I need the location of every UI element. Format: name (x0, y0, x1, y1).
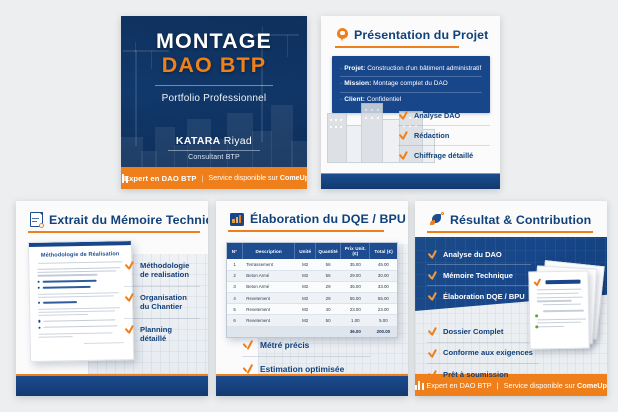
bar-chart-icon (230, 213, 244, 226)
footer-strong-text: Expert en DAO BTP (124, 174, 197, 183)
dqe-table: N° Description Unité Quantité Prix Unit.… (227, 243, 397, 337)
panel-title: Élaboration du DQE / BPU (250, 212, 406, 226)
check-icon (125, 325, 134, 334)
col-qte: Quantité (315, 243, 341, 259)
table-cell: Beton Armé (242, 281, 295, 292)
col-desc: Description (242, 243, 295, 259)
header-underline (228, 230, 384, 232)
table-row: 5RevetementM24023.0023.00 (227, 304, 397, 315)
panel-footer-bar (321, 173, 500, 189)
table-cell: M2 (295, 281, 315, 292)
document-lines (30, 292, 132, 298)
check-icon (428, 250, 437, 259)
check-icon (125, 261, 134, 270)
table-cell: M2 (295, 270, 315, 281)
memoire-checklist: Méthodologie de realisation Organisation… (124, 255, 200, 350)
check-icon (243, 364, 253, 374)
table-cell: Beton Armé (242, 270, 295, 281)
memoire-document-preview: Méthodologie de Réalisation (28, 240, 134, 362)
check-icon (125, 293, 134, 302)
table-cell: Revetement (242, 292, 295, 303)
table-cell: 4 (227, 292, 242, 303)
cover-subtitle: Portfolio Professionnel (155, 85, 273, 104)
panel-elaboration-dqe-bpu: Élaboration du DQE / BPU N° Description … (216, 201, 408, 396)
documents-illustration (519, 263, 601, 355)
check-label: Prêt à soumission (443, 370, 508, 379)
check-label: Méthodologie de realisation (140, 261, 189, 280)
check-item: Prêt à soumission (427, 364, 539, 385)
table-row: 6RevetementM2501.005.00 (227, 315, 397, 326)
table-row: 1TerrassementM25635.0045.00 (227, 259, 397, 270)
contribution-checklist-top: Analyse du DAO Mémoire Technique Élabora… (427, 244, 531, 306)
table-cell: 5 (227, 304, 242, 315)
check-label: Chiffrage détaillé (414, 151, 473, 160)
table-cell: 5.00 (370, 315, 397, 326)
document-lines (31, 332, 133, 338)
document-search-icon (30, 212, 43, 227)
check-label: Rédaction (414, 131, 449, 140)
check-icon (399, 151, 408, 160)
check-label: Estimation optimisée (260, 364, 344, 374)
portfolio-mockup-stage: MONTAGE DAO BTP Portfolio Professionnel … (0, 0, 618, 412)
status-dot-green (535, 325, 538, 328)
document-bullet (30, 300, 132, 304)
panel-footer-bar (216, 374, 408, 396)
table-header: N° Description Unité Quantité Prix Unit.… (227, 243, 397, 259)
rocket-icon (429, 212, 444, 227)
paper-sheet-front (528, 270, 589, 349)
table-row: 2Beton ArméM25629.0030.00 (227, 270, 397, 281)
cover-slide: MONTAGE DAO BTP Portfolio Professionnel … (121, 16, 307, 189)
bar-chart-icon (415, 381, 421, 390)
check-item: Analyse du DAO (427, 244, 531, 265)
panel-body: Méthodologie de Réalisation (16, 237, 208, 374)
check-item: Métré précis (242, 333, 370, 357)
col-total: Total (€) (370, 243, 397, 259)
panel-body: Analyse du DAO Mémoire Technique Élabora… (415, 237, 607, 374)
table-cell: 29 (315, 292, 341, 303)
panel-body: Analyse DAO Rédaction Chiffrage détaillé (321, 102, 500, 173)
table-cell: 35.00 (341, 281, 370, 292)
check-label: Analyse du DAO (443, 250, 502, 259)
table-row: 4RevetementM22955.0055.00 (227, 292, 397, 303)
table-cell: 30.00 (370, 270, 397, 281)
check-label: Dossier Complet (443, 327, 503, 336)
panel-resultat-contribution: Résultat & Contribution Analyse du DAO M… (415, 201, 607, 396)
check-icon (399, 111, 408, 120)
check-item: Mémoire Technique (427, 265, 531, 286)
table-cell: 29.00 (341, 270, 370, 281)
cover-content: MONTAGE DAO BTP Portfolio Professionnel … (121, 16, 307, 167)
check-item: Élaboration DQE / BPU (427, 286, 531, 306)
table-header-row: N° Description Unité Quantité Prix Unit.… (227, 243, 397, 259)
check-label: Organisation du Chantier (140, 293, 187, 312)
table-cell: 2 (227, 270, 242, 281)
table-cell: 1 (227, 259, 242, 270)
table-cell: Revetement (242, 304, 295, 315)
col-unite: Unité (295, 243, 315, 259)
footer-service-text: Service disponible sur ComeUp (209, 174, 307, 182)
document-bullet (30, 285, 132, 289)
table-cell: 6 (227, 315, 242, 326)
panel-extrait-memoire-technique: Extrait du Mémoire Technique Méthodologi… (16, 201, 208, 396)
info-row-projet: ·Projet: Construction d'un bâtiment admi… (340, 62, 482, 78)
document-bullet (30, 318, 132, 322)
status-dot-green (535, 314, 538, 317)
table-cell: 1.00 (341, 315, 370, 326)
check-icon (399, 131, 408, 140)
document-heading: Méthodologie de Réalisation (29, 245, 131, 263)
check-item: Organisation du Chantier (124, 287, 200, 319)
panel-title: Extrait du Mémoire Technique (49, 213, 208, 227)
table-cell: 45.00 (370, 259, 397, 270)
table-cell: 56 (315, 270, 341, 281)
col-num: N° (227, 243, 242, 259)
check-label: Planning détaillé (140, 325, 200, 344)
panel-title: Résultat & Contribution (450, 213, 591, 227)
panel-footer-bar (16, 374, 208, 396)
document-paragraph (29, 267, 131, 277)
panel-header: Extrait du Mémoire Technique (16, 201, 208, 233)
check-icon (428, 271, 437, 280)
panel-header: Élaboration du DQE / BPU (216, 201, 408, 232)
check-icon (428, 370, 437, 379)
check-label: Analyse DAO (414, 111, 460, 120)
footer-brand: ComeUp (577, 381, 607, 390)
table-cell: 29 (315, 281, 341, 292)
check-icon (533, 278, 541, 286)
table-total-cell: 200.00 (370, 326, 397, 337)
table-cell: Terrassement (242, 259, 295, 270)
table-cell: M2 (295, 304, 315, 315)
check-icon (243, 340, 253, 350)
cover-footer-bar: Expert en DAO BTP | Service disponible s… (121, 167, 307, 189)
table-cell: 55.00 (370, 292, 397, 303)
cover-title-line1: MONTAGE (156, 30, 272, 53)
col-pu: Prix Unit. (€) (341, 243, 370, 259)
check-item: Analyse DAO (398, 106, 490, 126)
deliverables-checklist: Analyse DAO Rédaction Chiffrage détaillé (398, 106, 490, 165)
dqe-table-wrapper: N° Description Unité Quantité Prix Unit.… (226, 242, 398, 338)
document-signature-line (84, 342, 124, 344)
document-lines (30, 307, 132, 316)
table-total-cell (227, 326, 242, 337)
cover-author-role: Consultant BTP (168, 150, 260, 161)
cover-author-lastname: KATARA (176, 135, 221, 147)
table-row: 3Beton ArméM22935.0033.00 (227, 281, 397, 292)
footer-separator: | (202, 174, 204, 183)
panel-title: Présentation du Projet (354, 28, 488, 42)
panel-body: N° Description Unité Quantité Prix Unit.… (216, 237, 408, 374)
check-label: Mémoire Technique (443, 271, 513, 280)
table-cell: M2 (295, 292, 315, 303)
header-underline (427, 231, 593, 233)
table-cell: 55.00 (341, 292, 370, 303)
cover-title-line2: DAO BTP (162, 53, 266, 77)
check-icon (428, 348, 437, 357)
table-cell: Revetement (242, 315, 295, 326)
check-item: Planning détaillé (124, 319, 200, 350)
table-body: 1TerrassementM25635.0045.002Beton ArméM2… (227, 259, 397, 336)
panel-header: Présentation du Projet (321, 16, 500, 48)
footer-brand: ComeUp (280, 174, 307, 182)
table-cell: 56 (315, 259, 341, 270)
check-icon (428, 292, 437, 301)
table-cell: M2 (295, 315, 315, 326)
check-label: Élaboration DQE / BPU (443, 292, 525, 301)
table-cell: 33.00 (370, 281, 397, 292)
check-icon (428, 327, 437, 336)
panel-header: Résultat & Contribution (415, 201, 607, 233)
check-item: Méthodologie de realisation (124, 255, 200, 287)
document-bullet (30, 279, 132, 283)
cover-author-firstname: Riyad (224, 135, 252, 147)
table-cell: 23.00 (370, 304, 397, 315)
info-row-mission: ·Mission: Montage complet du DAO (340, 77, 482, 93)
document-bullet (30, 325, 132, 329)
map-pin-icon (337, 28, 348, 42)
check-item: Rédaction (398, 126, 490, 146)
table-cell: M2 (295, 259, 315, 270)
check-label: Métré précis (260, 340, 309, 350)
header-underline (335, 46, 459, 48)
header-underline (28, 231, 200, 233)
table-cell: 3 (227, 281, 242, 292)
table-cell: 40 (315, 304, 341, 315)
cover-author: KATARA Riyad (176, 135, 252, 147)
check-item: Chiffrage détaillé (398, 146, 490, 165)
table-cell: 50 (315, 315, 341, 326)
table-cell: 23.00 (341, 304, 370, 315)
table-cell: 35.00 (341, 259, 370, 270)
panel-presentation-du-projet: Présentation du Projet ·Projet: Construc… (321, 16, 500, 189)
